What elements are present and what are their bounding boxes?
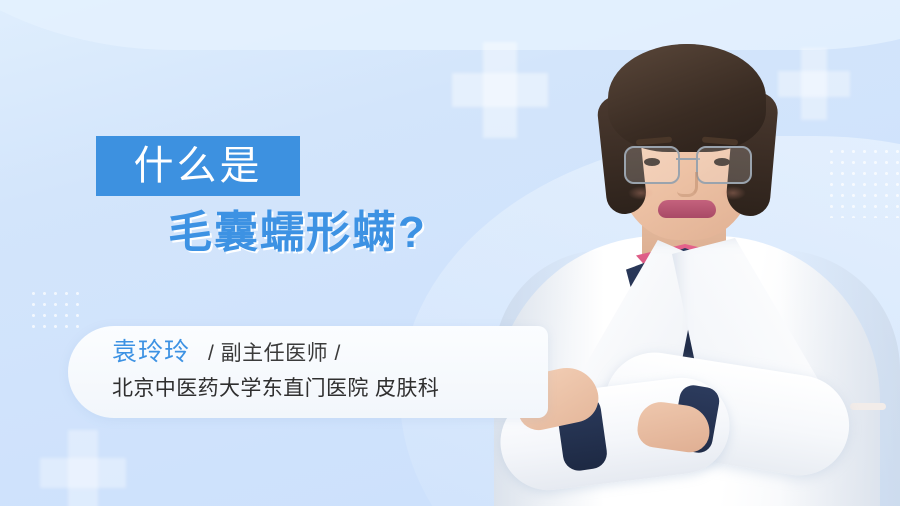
cheek-right (720, 186, 746, 200)
dot-grid-left (28, 288, 84, 336)
mouth (658, 200, 716, 218)
doctor-job-title: / 副主任医师 / (208, 343, 341, 364)
hair-top (608, 44, 766, 152)
title-line-1-box: 什么是 (96, 136, 300, 196)
teeth (850, 403, 886, 410)
medical-cross-icon (40, 430, 126, 506)
lens-left (624, 146, 680, 184)
title-line-2-text: 毛囊蠕形螨? (168, 207, 427, 260)
cheek-left (628, 186, 654, 200)
doctor-info-card: 袁玲玲 / 副主任医师 / 北京中医药大学东直门医院 皮肤科 (68, 326, 548, 418)
doctor-portrait (476, 0, 900, 506)
video-thumbnail-banner: 什么是 毛囊蠕形螨? 袁玲玲 / 副主任医师 / 北京中医药大学东直门医院 皮肤… (0, 0, 900, 506)
title-line-1-text: 什么是 (134, 146, 263, 186)
nose (677, 172, 698, 197)
doctor-name-row: 袁玲玲 / 副主任医师 / (112, 340, 341, 365)
doctor-name: 袁玲玲 (112, 340, 190, 365)
lens-right (696, 146, 752, 184)
doctor-affiliation: 北京中医药大学东直门医院 皮肤科 (112, 378, 439, 399)
